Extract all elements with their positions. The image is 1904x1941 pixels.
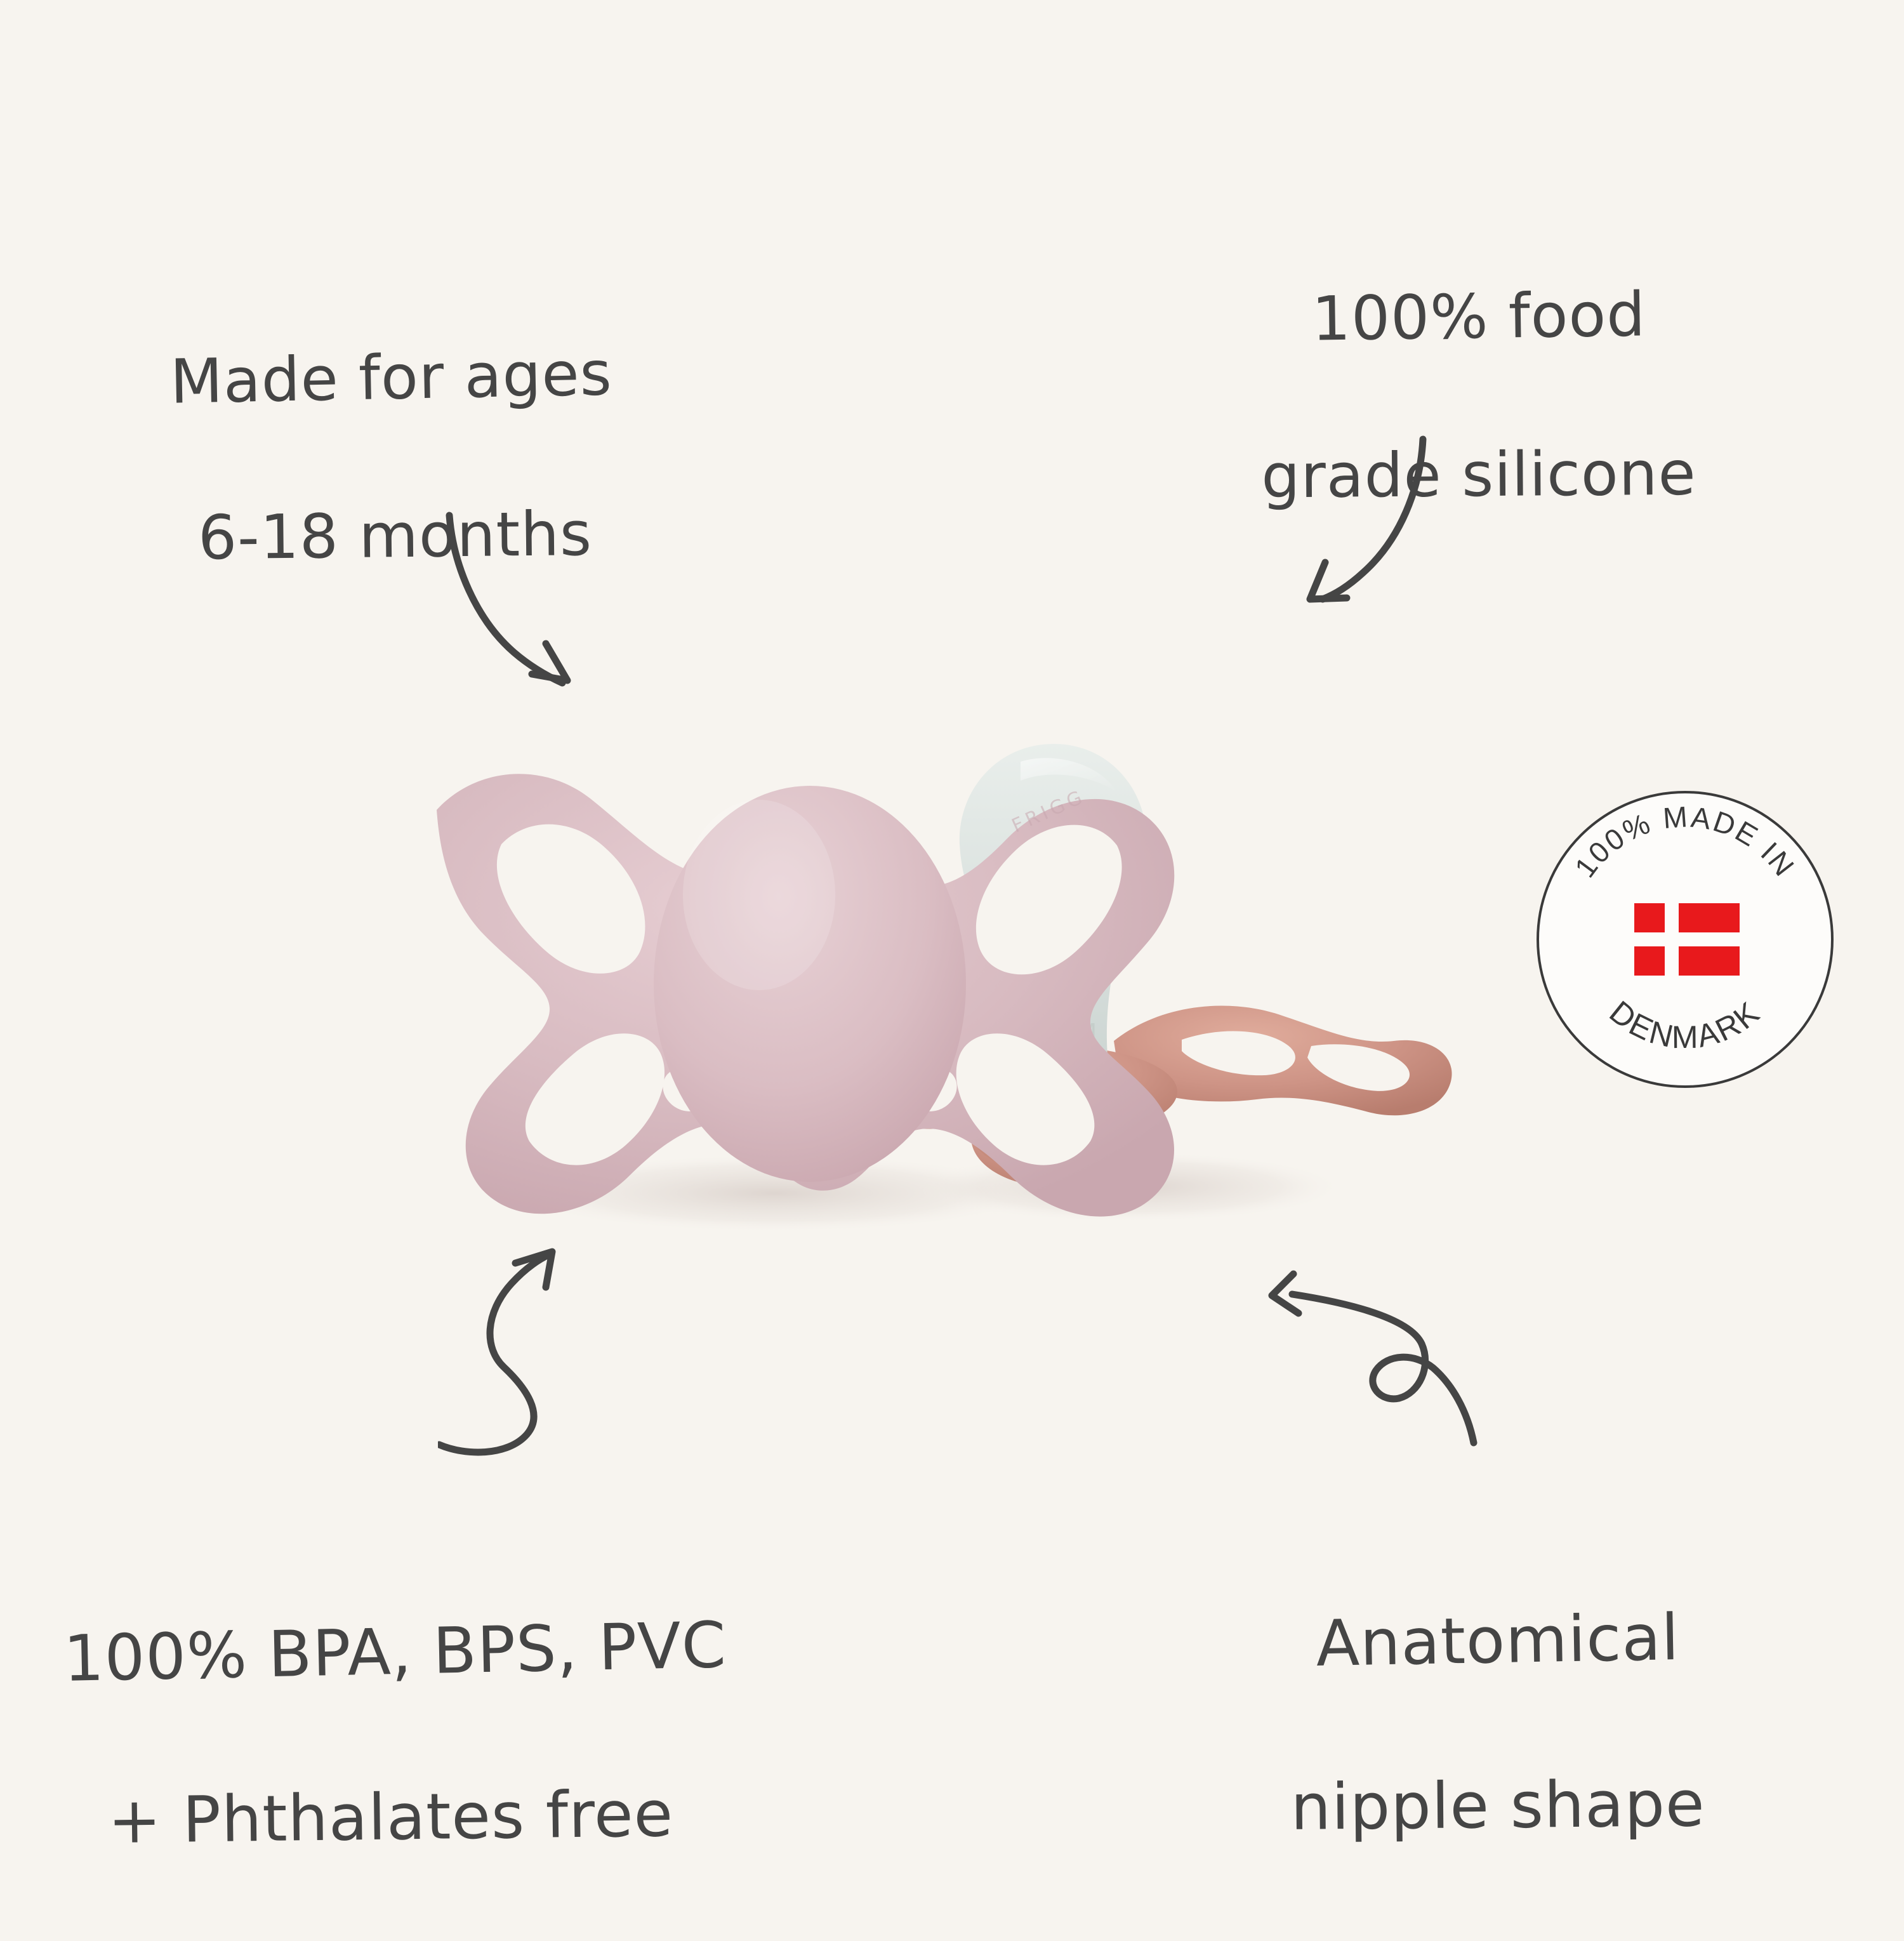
callout-anatomical-nipple-line2: nipple shape — [1224, 1762, 1771, 1850]
callout-bpa-free-line1: 100% BPA, BPS, PVC — [63, 1604, 727, 1700]
denmark-badge-icon: 100% MADE IN DENMARK — [1536, 790, 1834, 1089]
callout-bpa-free-line2: + Phthalates free — [107, 1772, 727, 1862]
arrow-food-grade-silicone — [1295, 413, 1536, 631]
callout-anatomical-nipple: Anatomical nipple shape — [1225, 1517, 1771, 1930]
callout-anatomical-nipple-line1: Anatomical — [1224, 1595, 1771, 1687]
front-center-gloss — [683, 800, 835, 990]
s-curve-arrow-up-right-icon — [438, 1238, 660, 1492]
callout-made-for-ages-line1: Made for ages — [169, 334, 613, 421]
made-in-denmark-badge: 100% MADE IN DENMARK — [1536, 790, 1834, 1089]
callout-bpa-free: 100% BPA, BPS, PVC + Phthalates free — [63, 1528, 727, 1941]
curved-arrow-down-right-icon — [387, 495, 641, 717]
danish-flag-icon — [1634, 903, 1740, 976]
pacifier-illustration: 6-18 M FRIGG FRIGG — [381, 686, 1523, 1244]
front-pacifier: FRIGG — [437, 774, 1174, 1216]
arrow-bpa-free — [438, 1238, 660, 1494]
arrow-made-for-ages — [387, 495, 641, 720]
infographic-canvas: 6-18 M FRIGG FRIGG — [0, 0, 1904, 1904]
curved-arrow-down-left-icon — [1295, 413, 1536, 628]
arrow-anatomical-nipple — [1231, 1266, 1517, 1510]
product-image: 6-18 M FRIGG FRIGG — [381, 686, 1523, 1244]
callout-food-grade-silicone-line1: 100% food — [1161, 273, 1797, 361]
looped-arrow-up-left-icon — [1231, 1266, 1517, 1507]
